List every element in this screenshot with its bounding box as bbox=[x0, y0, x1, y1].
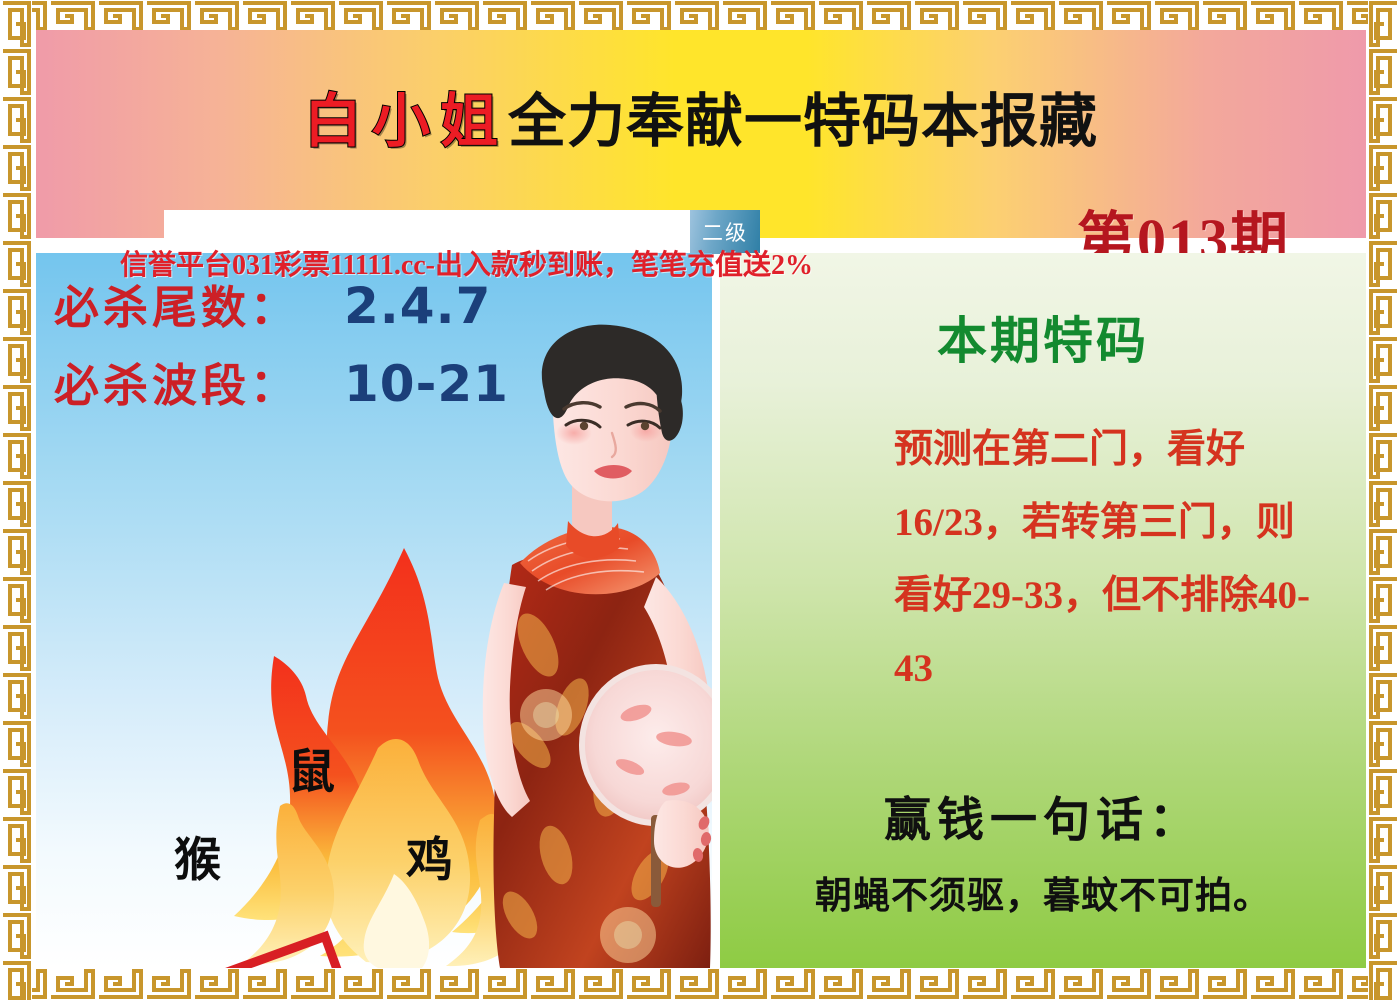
page-title-black: 全力奉献一特码本报藏 bbox=[508, 87, 1098, 155]
kill-tail-value: 2.4.7 bbox=[344, 277, 491, 335]
right-panel: 本期特码 预测在第二门，看好16/23，若转第三门，则看好29-33，但不排除4… bbox=[720, 253, 1366, 968]
kill-row: 必杀波段： 10-21 bbox=[54, 349, 574, 427]
left-panel: 必杀尾数： 2.4.7 必杀波段： 10-21 鼠 猴 鸡 正版 bbox=[36, 253, 712, 968]
page-title-red: 白小姐 bbox=[304, 87, 508, 155]
prediction-text: 预测在第二门，看好16/23，若转第三门，则看好29-33，但不排除40-43 bbox=[894, 413, 1324, 705]
winning-tip-quote: 朝蝇不须驱，暮蚊不可拍。 bbox=[720, 865, 1366, 919]
border-pattern-bottom bbox=[0, 968, 1400, 1000]
border-pattern-top bbox=[0, 0, 1400, 32]
border-pattern-left bbox=[0, 0, 32, 1000]
winning-tip-title: 赢钱一句话： bbox=[720, 781, 1366, 850]
header-banner: 白小姐全力奉献一特码本报藏 二级 第013期 bbox=[36, 30, 1366, 238]
kill-band-value: 10-21 bbox=[344, 355, 509, 413]
kill-band-label: 必杀波段： bbox=[54, 349, 344, 414]
zodiac-left: 猴 bbox=[174, 821, 221, 890]
border-pattern-right bbox=[1368, 0, 1400, 1000]
special-code-title: 本期特码 bbox=[720, 301, 1366, 373]
zodiac-right: 鸡 bbox=[406, 821, 453, 890]
page-title: 白小姐全力奉献一特码本报藏 bbox=[36, 92, 1366, 150]
zodiac-top: 鼠 bbox=[288, 733, 335, 802]
kill-number-list: 必杀尾数： 2.4.7 必杀波段： 10-21 bbox=[54, 271, 574, 427]
lottery-poster: 白小姐全力奉献一特码本报藏 二级 第013期 信誉平台031彩票11111.cc… bbox=[0, 0, 1400, 1000]
promo-text: 信誉平台031彩票11111.cc-出入款秒到账，笔笔充值送2% bbox=[120, 243, 813, 283]
